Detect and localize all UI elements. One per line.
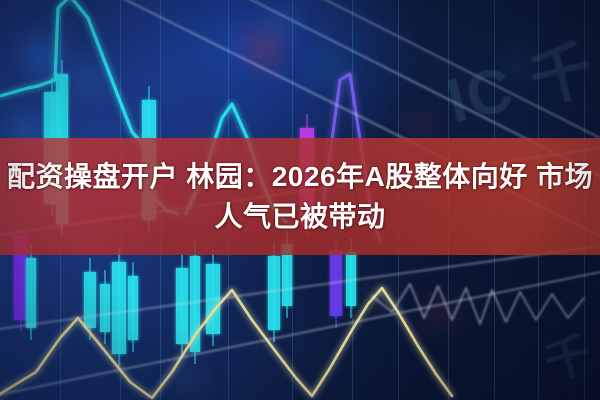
vignette-overlay [0, 0, 600, 400]
market-banner-image: IC 千 千 配资操盘开户 林园：2026年A股整体向好 市场 人气已被带动 [0, 0, 600, 400]
